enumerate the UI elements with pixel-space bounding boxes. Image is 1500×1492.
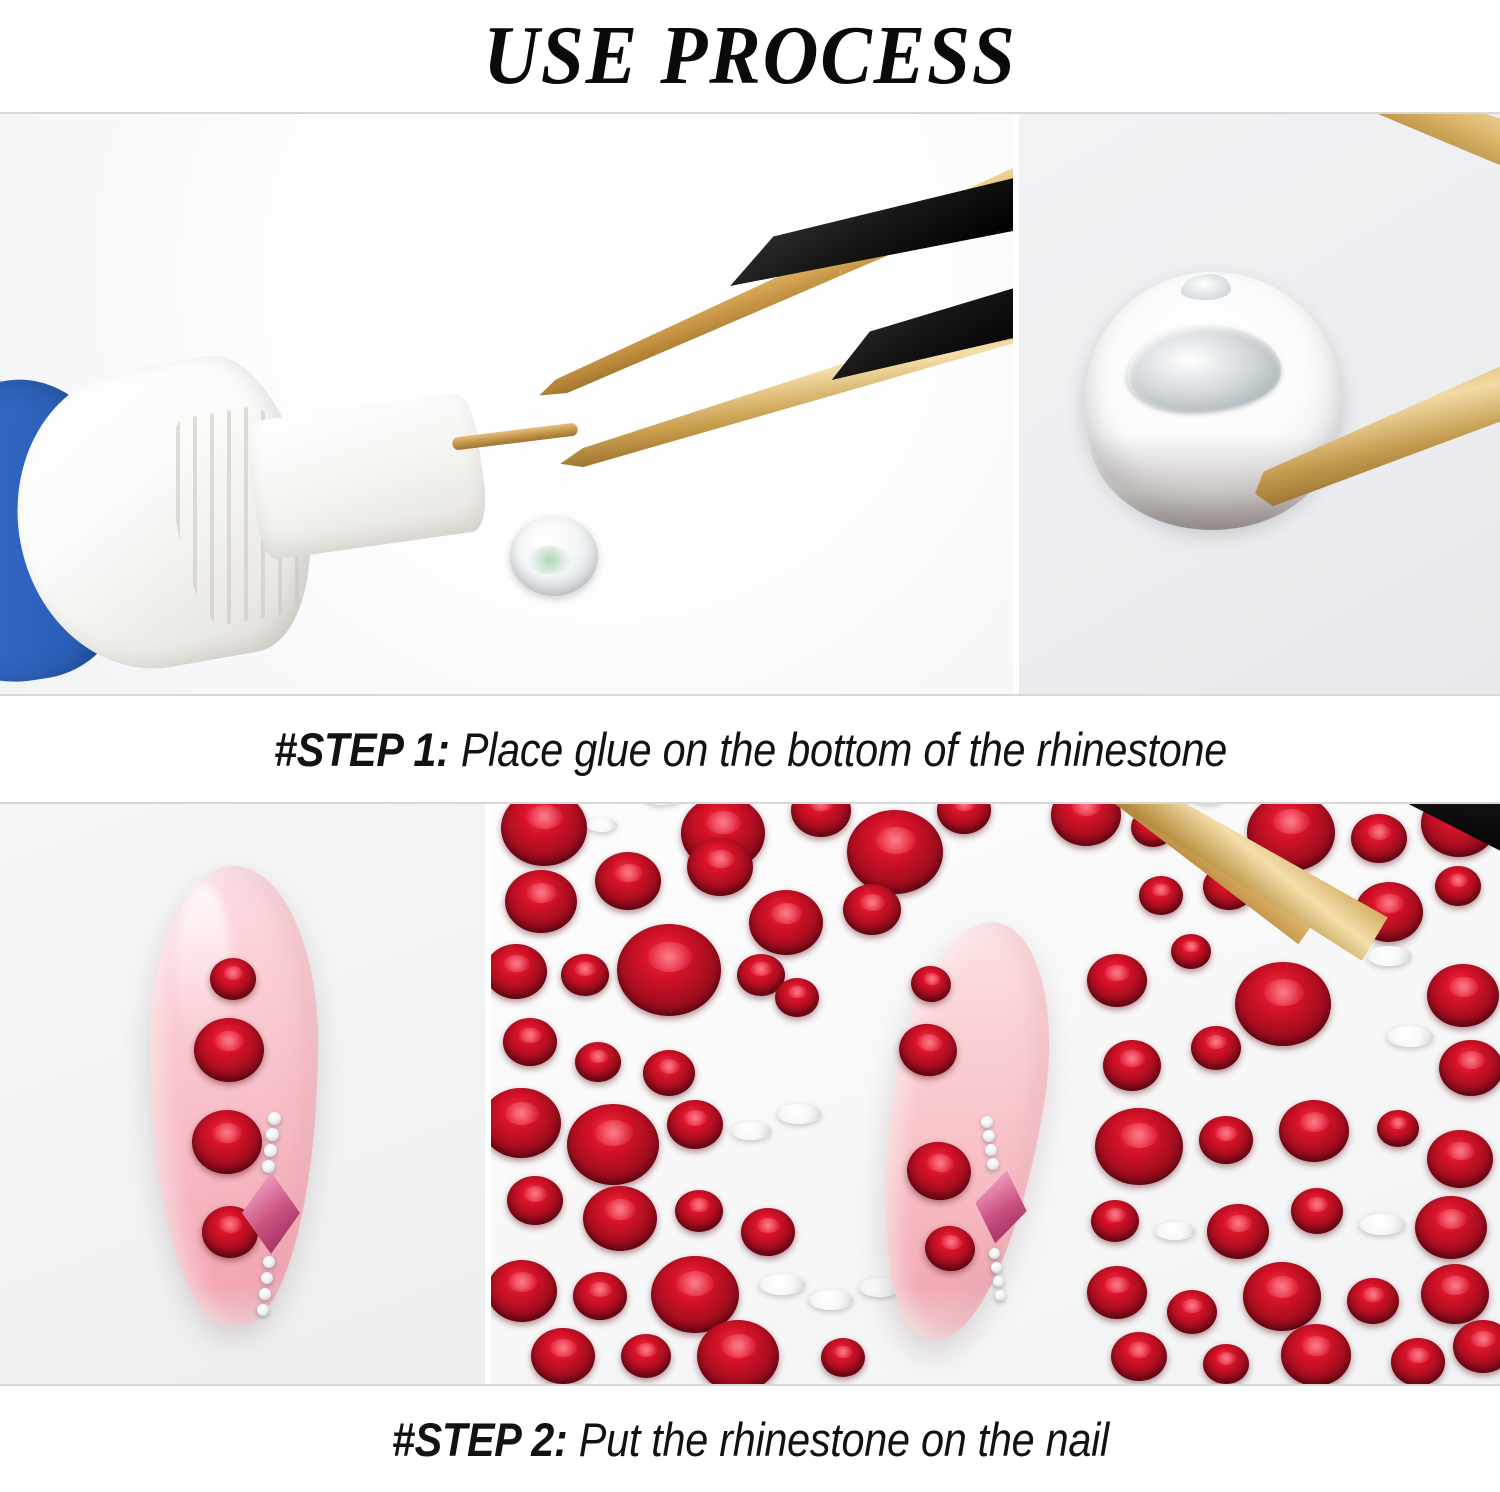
clear-rhinestone: [261, 1272, 273, 1284]
rhinestone-red: [1167, 1290, 1217, 1334]
rhinestone-red: [1191, 1026, 1241, 1070]
rhinestone-red: [643, 1050, 695, 1096]
red-rhinestone: [210, 958, 256, 1000]
clear-rhinestone: [992, 1275, 1005, 1288]
rhinestone-red: [1095, 1108, 1183, 1185]
clear-rhinestone: [263, 1256, 275, 1268]
step-2-label: #STEP 2:: [391, 1413, 567, 1466]
red-rhinestone: [192, 1110, 262, 1174]
rhinestone-red: [847, 810, 943, 894]
rhinestone-flat: [1387, 1026, 1433, 1047]
clear-rhinestone: [994, 1289, 1007, 1302]
rhinestone-red: [1291, 1188, 1343, 1234]
step-2-caption: #STEP 2: Put the rhinestone on the nail: [0, 1386, 1500, 1492]
clear-rhinestone: [510, 516, 598, 596]
rhinestone-red: [1087, 954, 1147, 1007]
red-rhinestone: [194, 1018, 264, 1082]
rhinestone-red: [1051, 804, 1121, 846]
rhinestone-red: [617, 924, 721, 1016]
rhinestone-red: [1087, 1266, 1147, 1319]
rhinestone-flat: [641, 804, 683, 805]
rhinestone-red: [487, 1260, 557, 1322]
rhinestone-red: [1391, 1338, 1445, 1384]
rhinestone-red: [595, 852, 661, 910]
rhinestone-red: [1453, 1320, 1500, 1373]
rhinestone-red: [1439, 1040, 1500, 1096]
rhinestone-red: [1347, 1278, 1399, 1324]
step-1-caption: #STEP 1: Place glue on the bottom of the…: [0, 696, 1500, 802]
step-1-panel-row: [0, 112, 1500, 696]
rhinestone-red: [1435, 866, 1481, 906]
rhinestone-red: [1103, 1040, 1161, 1091]
rhinestone-red: [1091, 1200, 1139, 1242]
page-title: USE PROCESS: [483, 14, 1017, 98]
rhinestone-flat: [777, 1104, 821, 1124]
rhinestone-flat: [1155, 1222, 1195, 1240]
rhinestone-red: [583, 1186, 657, 1251]
rhinestone-red: [573, 1272, 627, 1320]
rhinestone-red: [485, 944, 547, 999]
rhinestone-red: [503, 1018, 557, 1066]
rhinestone-red: [1427, 1130, 1493, 1188]
rhinestone-red: [1171, 934, 1211, 969]
rhinestone-red: [1199, 1116, 1253, 1164]
glue-bottle-and-tweezers-photo: [0, 114, 1013, 694]
step-2-panel-row: [0, 802, 1500, 1386]
tweezer-upper-arm-closeup: [1257, 114, 1500, 218]
rhinestone-red: [937, 804, 991, 834]
rhinestone-red: [687, 838, 753, 896]
clear-rhinestone: [268, 1112, 281, 1125]
rhinestone-red: [1351, 814, 1407, 863]
rhinestone-red: [507, 1176, 563, 1225]
rhinestone-red: [749, 890, 823, 955]
rhinestone-red: [775, 978, 819, 1017]
step-2-text: Put the rhinestone on the nail: [567, 1413, 1108, 1466]
glue-drop-closeup-photo: [1013, 114, 1500, 694]
finished-nail-photo: [0, 804, 485, 1384]
rhinestone-red: [741, 1208, 795, 1256]
clear-rhinestone: [257, 1304, 269, 1316]
clear-rhinestone: [262, 1160, 275, 1173]
rhinestone-red: [485, 1088, 561, 1158]
rhinestone-red: [501, 804, 587, 866]
rhinestone-red: [1377, 1110, 1419, 1147]
rhinestone-flat: [1359, 1214, 1405, 1235]
rhinestone-red: [1235, 962, 1331, 1046]
rhinestone-red: [1281, 1324, 1351, 1384]
rhinestone-flat: [759, 1274, 805, 1295]
rhinestone-red: [843, 884, 901, 935]
rhinestone-red: [1415, 1196, 1487, 1259]
rhinestone-red: [1421, 1264, 1489, 1324]
rhinestone-red: [1203, 1344, 1249, 1384]
rhinestone-red: [675, 1190, 723, 1232]
rhinestone-red: [621, 1334, 671, 1378]
rhinestones-and-nail-photo: [485, 804, 1500, 1384]
rhinestone-red: [561, 954, 609, 996]
rhinestone-red: [791, 804, 851, 837]
rhinestone-red: [1139, 876, 1183, 915]
rhinestone-flat: [809, 1290, 853, 1310]
rhinestone-red: [697, 1320, 779, 1384]
rhinestone-red: [505, 870, 577, 933]
rhinestone-flat: [587, 818, 617, 832]
clear-rhinestone: [259, 1288, 271, 1300]
rhinestone-red: [575, 1042, 621, 1082]
clear-rhinestone: [266, 1128, 279, 1141]
step-1-text: Place glue on the bottom of the rhinesto…: [449, 723, 1226, 776]
step-1-label: #STEP 1:: [274, 723, 450, 776]
rhinestone-red: [821, 1338, 865, 1377]
rhinestone-red: [1427, 964, 1499, 1027]
rhinestone-red: [1279, 1100, 1349, 1162]
rhinestone-flat: [731, 1122, 771, 1140]
rhinestone-red: [1243, 1262, 1321, 1331]
rhinestone-red: [1207, 1204, 1269, 1259]
header: USE PROCESS: [0, 0, 1500, 112]
clear-rhinestone: [990, 1261, 1003, 1274]
rhinestone-red: [567, 1104, 659, 1185]
rhinestone-red: [1111, 1332, 1167, 1381]
rhinestone-red: [531, 1328, 595, 1384]
rhinestone-red: [667, 1100, 723, 1149]
clear-rhinestone: [264, 1144, 277, 1157]
rhinestone-flat: [1367, 946, 1411, 966]
step-1-section: #STEP 1: Place glue on the bottom of the…: [0, 112, 1500, 802]
step-2-section: #STEP 2: Put the rhinestone on the nail: [0, 802, 1500, 1492]
